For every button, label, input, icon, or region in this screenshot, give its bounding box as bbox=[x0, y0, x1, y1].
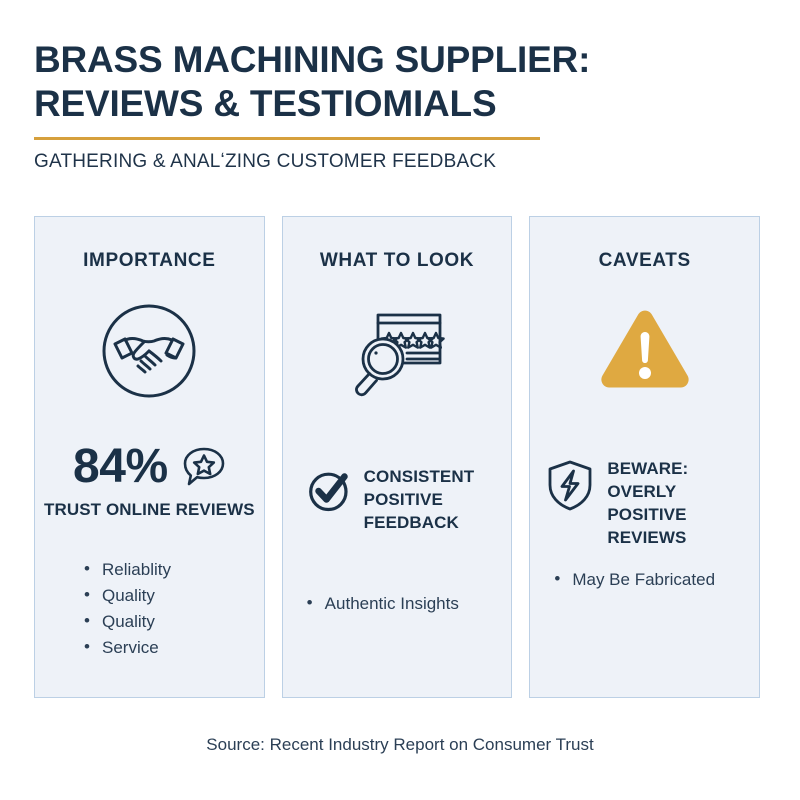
headline-block: BEWARE: OVERLY POSITIVE REVIEWS bbox=[546, 457, 749, 549]
magnifier-star-review-icon bbox=[283, 299, 512, 403]
page-subtitle: GATHERING & ANALʻZING CUSTOMER FEEDBACK bbox=[34, 150, 734, 174]
card-caveats: CAVEATS BEWARE: OVERLY POSITIVE bbox=[529, 216, 760, 698]
card-title: IMPORTANCE bbox=[35, 250, 264, 272]
infographic-page: BRASS MACHINING SUPPLIER:REVIEWS & TESTI… bbox=[0, 0, 800, 800]
header: BRASS MACHINING SUPPLIER:REVIEWS & TESTI… bbox=[34, 38, 734, 174]
card-title: WHAT TO LOOK bbox=[283, 250, 512, 272]
shield-bolt-icon bbox=[546, 459, 594, 511]
list-item: Authentic Insights bbox=[305, 591, 459, 617]
card-what-to-look: WHAT TO LOOK bbox=[282, 216, 513, 698]
handshake-circle-icon bbox=[35, 299, 264, 403]
headline-line: POSITIVE bbox=[364, 488, 475, 511]
star-speech-bubble-icon bbox=[182, 446, 226, 488]
headline-line: OVERLY POSITIVE bbox=[607, 480, 749, 526]
card-importance: IMPORTANCE 84% bbox=[34, 216, 265, 698]
headline-text: CONSISTENT POSITIVE FEEDBACK bbox=[364, 465, 475, 534]
headline-text: BEWARE: OVERLY POSITIVE REVIEWS bbox=[607, 457, 749, 549]
headline-line: FEEDBACK bbox=[364, 511, 475, 534]
page-title: BRASS MACHINING SUPPLIER:REVIEWS & TESTI… bbox=[34, 38, 734, 126]
title-line-1: BRASS MACHINING SUPPLIER: bbox=[34, 39, 590, 80]
headline-line: REVIEWS bbox=[607, 526, 749, 549]
headline-line: BEWARE: bbox=[607, 457, 749, 480]
headline-line: CONSISTENT bbox=[364, 465, 475, 488]
list-item: Quality bbox=[82, 609, 171, 635]
bullet-list: May Be Fabricated bbox=[552, 567, 715, 593]
stat-number: 84% bbox=[73, 443, 168, 491]
stat-caption: TRUST ONLINE REVIEWS bbox=[35, 500, 264, 520]
list-item: Quality bbox=[82, 583, 171, 609]
title-line-2: REVIEWS & TESTIOMIALS bbox=[34, 82, 734, 126]
check-circle-icon bbox=[305, 467, 351, 513]
stat-row: 84% bbox=[35, 443, 264, 491]
list-item: Reliablity bbox=[82, 557, 171, 583]
bullet-list: Reliablity Quality Quality Service bbox=[82, 557, 171, 661]
cards-row: IMPORTANCE 84% bbox=[34, 216, 760, 698]
title-divider bbox=[34, 137, 540, 140]
card-title: CAVEATS bbox=[530, 250, 759, 272]
list-item: Service bbox=[82, 635, 171, 661]
list-item: May Be Fabricated bbox=[552, 567, 715, 593]
source-footer: Source: Recent Industry Report on Consum… bbox=[0, 735, 800, 755]
bullet-list: Authentic Insights bbox=[305, 591, 459, 617]
headline-block: CONSISTENT POSITIVE FEEDBACK bbox=[305, 465, 496, 534]
warning-triangle-icon bbox=[530, 299, 759, 403]
